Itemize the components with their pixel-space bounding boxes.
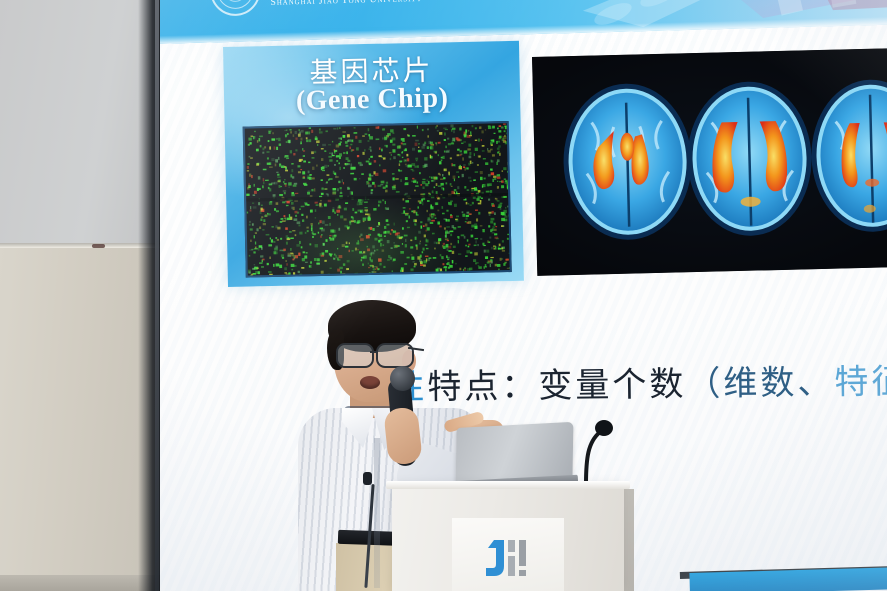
banner-fade: [160, 16, 887, 44]
lapel-mic-icon: [363, 472, 372, 485]
screenshot-stage: 上海交通大学 Shanghai Jiao Tong University 基因芯…: [0, 0, 887, 591]
glasses-bridge: [370, 351, 378, 353]
floor-strip: [0, 575, 160, 591]
podium-top-edge: [386, 481, 630, 489]
eyeglasses-icon: [332, 343, 416, 365]
brain-mri-image: [532, 48, 887, 276]
gooseneck-mic-icon: [578, 416, 618, 486]
body-seg-4: （维数、: [686, 363, 834, 405]
presenter-mouth: [360, 376, 380, 389]
chip-glow: [245, 123, 510, 275]
wall-fixture-dot: [92, 244, 105, 248]
university-name-en: Shanghai Jiao Tong University: [270, 0, 422, 8]
university-seal-icon: [210, 0, 261, 16]
brain-slice-3: [794, 69, 887, 243]
lens-left: [336, 343, 374, 368]
slide-banner: 上海交通大学 Shanghai Jiao Tong University: [160, 0, 887, 44]
podium-logo-icon: [478, 536, 542, 584]
room-wall-lower: [0, 244, 157, 591]
gene-chip-title-panel: 基因芯片 (Gene Chip): [223, 41, 524, 287]
body-seg-5: 特征）: [834, 361, 887, 402]
shirt-placket: [374, 438, 380, 588]
gene-chip-image: [243, 121, 512, 278]
wall-edge-highlight: [155, 0, 159, 591]
slide-title-en: (Gene Chip): [224, 81, 521, 119]
body-seg-3: 变量个数: [538, 364, 686, 406]
